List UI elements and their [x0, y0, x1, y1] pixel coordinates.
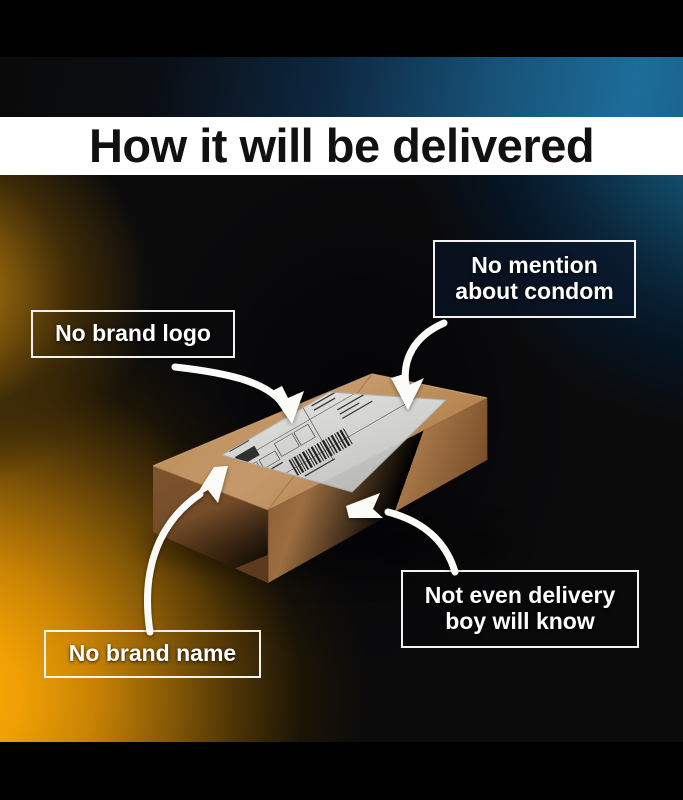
barcode-small — [342, 322, 378, 349]
poster: How it will be delivered No brand logo N… — [0, 0, 683, 800]
callout-no-brand-name-label: No brand name — [69, 641, 236, 667]
callout-line-1: No mention — [471, 252, 598, 278]
callout-no-brand-name[interactable]: No brand name — [44, 630, 261, 678]
callout-no-brand-logo-label: No brand logo — [55, 321, 211, 347]
callout-not-even-delivery-boy[interactable]: Not even delivery boy will know — [401, 570, 639, 648]
callout-no-mention-about-condom[interactable]: No mention about condom — [433, 240, 636, 318]
callout-line-2: boy will know — [445, 608, 595, 634]
callout-not-even-delivery-boy-label: Not even delivery boy will know — [425, 583, 615, 635]
callout-no-brand-logo[interactable]: No brand logo — [31, 310, 235, 358]
callout-line-2: about condom — [455, 278, 613, 304]
page-title: How it will be delivered — [89, 122, 594, 169]
blue-accent-band — [0, 57, 683, 117]
bottom-black-bar — [0, 742, 683, 800]
callout-no-mention-about-condom-label: No mention about condom — [455, 253, 613, 305]
top-black-bar — [0, 0, 683, 57]
callout-line-1: Not even delivery — [425, 582, 615, 608]
title-banner: How it will be delivered — [0, 117, 683, 175]
